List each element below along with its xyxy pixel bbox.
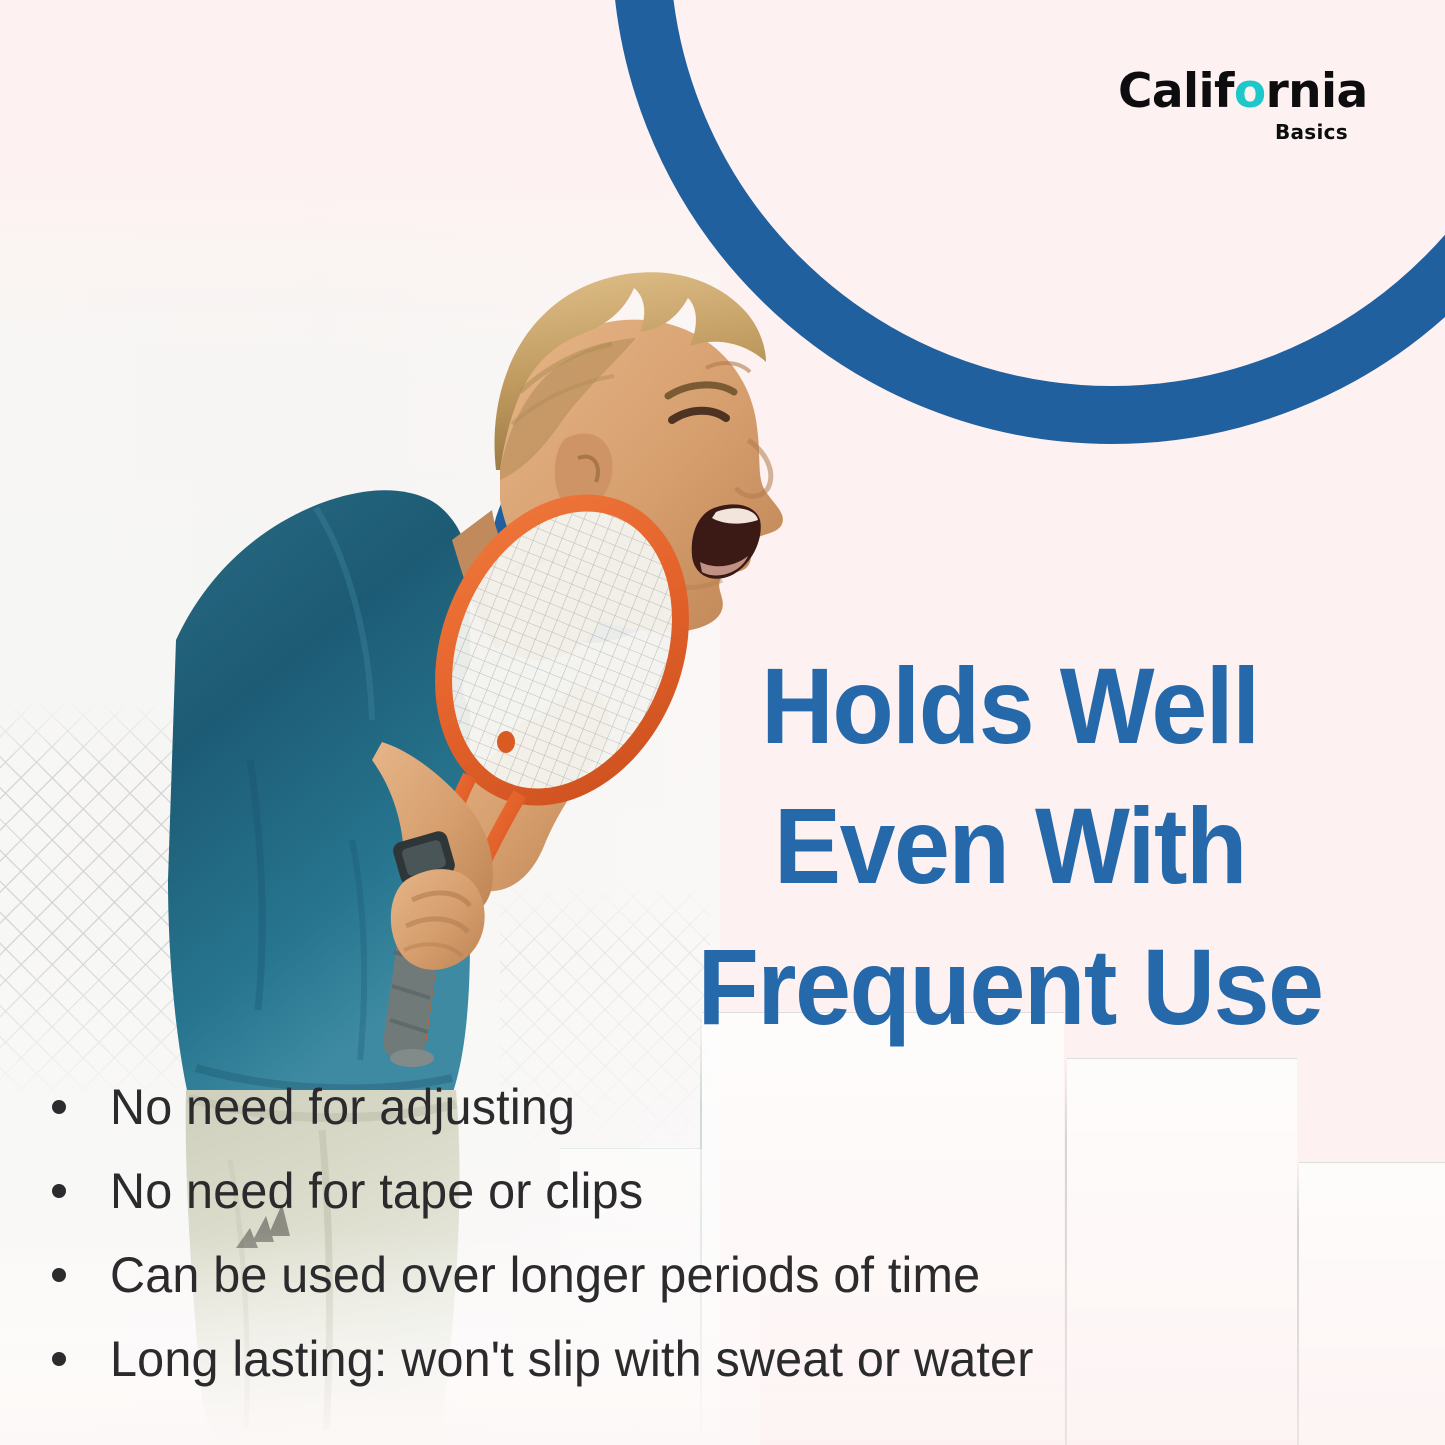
brand-logo: California Basics bbox=[1118, 68, 1350, 142]
brand-name-accent-letter: o bbox=[1234, 64, 1266, 119]
bullet-dot-icon bbox=[52, 1268, 66, 1282]
headline-line-1: Holds Well bbox=[638, 636, 1382, 776]
headline: Holds Well Even With Frequent Use bbox=[610, 636, 1410, 1057]
promo-poster: California Basics Holds Well Even With F… bbox=[0, 0, 1445, 1445]
headline-line-2: Even With bbox=[638, 776, 1382, 916]
feature-text: No need for adjusting bbox=[110, 1078, 575, 1136]
racket-dampener bbox=[497, 731, 515, 753]
headline-line-3: Frequent Use bbox=[638, 917, 1382, 1057]
brand-name: California bbox=[1118, 68, 1350, 115]
brand-subtitle: Basics bbox=[1118, 122, 1348, 142]
feature-text: Can be used over longer periods of time bbox=[110, 1246, 980, 1304]
brand-name-part1: Calif bbox=[1118, 64, 1234, 119]
bullet-dot-icon bbox=[52, 1352, 66, 1366]
list-item: No need for adjusting bbox=[52, 1078, 1392, 1162]
bullet-dot-icon bbox=[52, 1100, 66, 1114]
list-item: No need for tape or clips bbox=[52, 1162, 1392, 1246]
feature-text: No need for tape or clips bbox=[110, 1162, 643, 1220]
bullet-dot-icon bbox=[52, 1184, 66, 1198]
list-item: Can be used over longer periods of time bbox=[52, 1246, 1392, 1330]
list-item: Long lasting: won't slip with sweat or w… bbox=[52, 1330, 1392, 1414]
brand-name-part2: rnia bbox=[1266, 64, 1368, 119]
feature-text: Long lasting: won't slip with sweat or w… bbox=[110, 1330, 1034, 1388]
feature-list: No need for adjusting No need for tape o… bbox=[52, 1078, 1392, 1414]
